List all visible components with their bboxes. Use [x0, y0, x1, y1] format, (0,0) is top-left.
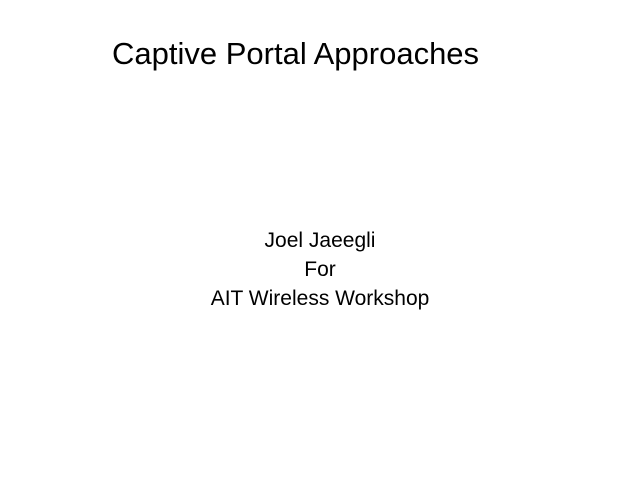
slide-body-line-event: AIT Wireless Workshop: [70, 284, 570, 313]
slide-body-line-preposition: For: [70, 255, 570, 284]
slide-body-line-author: Joel Jaeegli: [70, 226, 570, 255]
slide-body-placeholder: Joel Jaeegli For AIT Wireless Workshop: [70, 226, 570, 313]
slide-title-placeholder: Captive Portal Approaches: [96, 34, 544, 90]
slide-title: Captive Portal Approaches: [96, 34, 479, 74]
presentation-slide: Captive Portal Approaches Joel Jaeegli F…: [0, 0, 640, 480]
